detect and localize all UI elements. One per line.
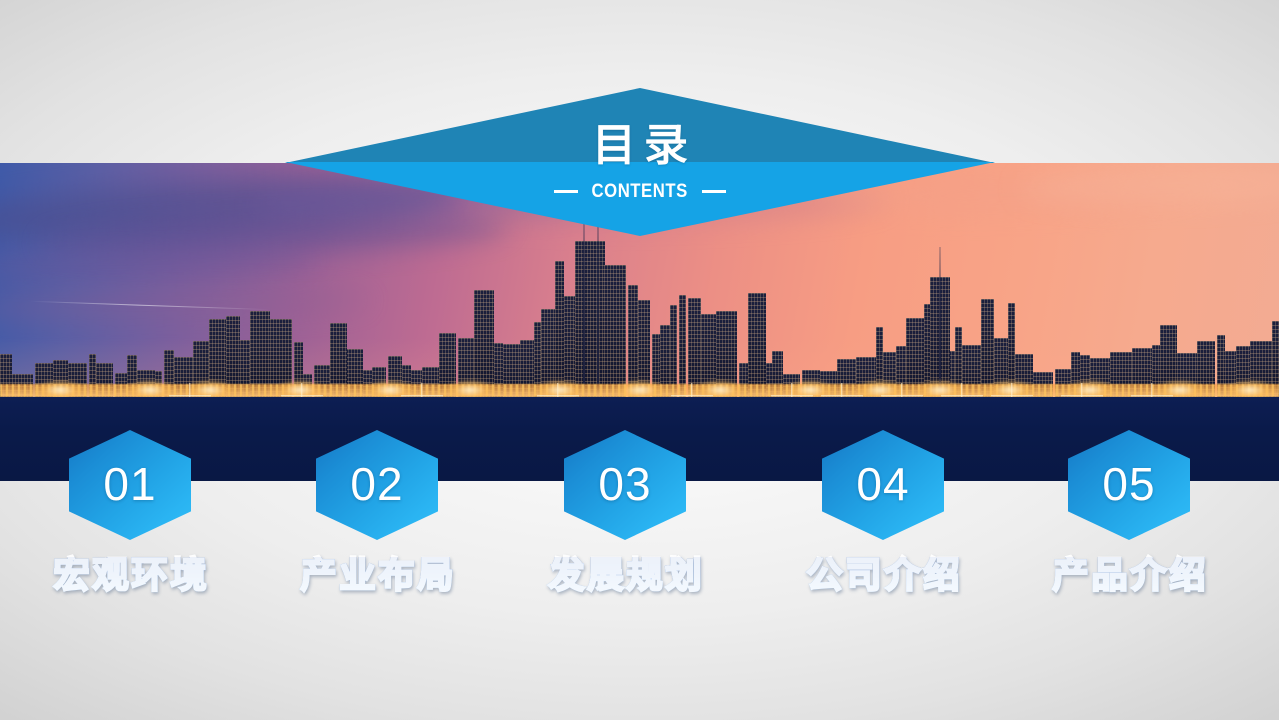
hexagon-badge-icon: 01 [69, 430, 191, 540]
hexagon-badge-icon: 05 [1068, 430, 1190, 540]
agenda-item-list: 01宏观环境02产业布局03发展规划04公司介绍05产品介绍 [0, 430, 1279, 630]
dash-left-icon [554, 190, 578, 193]
page-subtitle: CONTENTS [592, 181, 688, 203]
agenda-item-03[interactable]: 03发展规划 [500, 430, 750, 593]
building [555, 261, 564, 397]
agenda-item-label: 宏观环境 [50, 557, 209, 593]
hexagon-badge-icon: 03 [564, 430, 686, 540]
agenda-item-label: 产品介绍 [1049, 557, 1208, 593]
hexagon-badge-icon: 04 [822, 430, 944, 540]
subtitle-row: CONTENTS [554, 181, 725, 203]
agenda-item-label: 公司介绍 [803, 557, 962, 593]
building [575, 241, 605, 397]
building [679, 295, 686, 397]
agenda-item-number: 05 [1102, 461, 1155, 507]
page-title: 目录 [584, 124, 696, 168]
agenda-item-label: 发展规划 [545, 557, 704, 593]
agenda-item-number: 02 [350, 461, 403, 507]
antenna [583, 211, 585, 397]
title-banner: 目录 CONTENTS [0, 88, 1279, 238]
antenna [597, 211, 599, 397]
building [604, 265, 626, 397]
presentation-slide: 目录 CONTENTS 01宏观环境02产业布局03发展规划04公司介绍05产品… [0, 0, 1279, 720]
skyline-silhouette [0, 222, 1279, 397]
building [748, 293, 766, 397]
agenda-item-number: 03 [598, 461, 651, 507]
banner-text-group: 目录 CONTENTS [285, 88, 995, 238]
agenda-item-02[interactable]: 02产业布局 [252, 430, 502, 593]
agenda-item-label: 产业布局 [297, 557, 456, 593]
agenda-item-05[interactable]: 05产品介绍 [1004, 430, 1254, 593]
dash-right-icon [702, 190, 726, 193]
hexagon-badge-icon: 02 [316, 430, 438, 540]
agenda-item-number: 04 [856, 461, 909, 507]
agenda-item-01[interactable]: 01宏观环境 [5, 430, 255, 593]
agenda-item-04[interactable]: 04公司介绍 [758, 430, 1008, 593]
antenna [939, 247, 941, 397]
agenda-item-number: 01 [103, 461, 156, 507]
